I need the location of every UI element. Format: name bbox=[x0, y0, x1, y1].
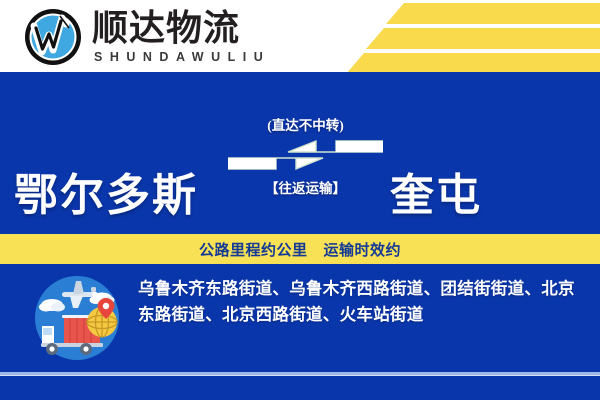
bidirectional-arrow-icon bbox=[228, 139, 383, 173]
route-section: 鄂尔多斯 (直达不中转) 【往返运输】 奎屯 bbox=[0, 72, 600, 234]
decorative-yellow-stripes bbox=[330, 0, 600, 72]
banner-header: 顺达物流 SHUNDAWULIU bbox=[0, 0, 600, 72]
truck-window bbox=[43, 328, 52, 335]
destination-city: 奎屯 bbox=[390, 174, 482, 218]
stripe-1 bbox=[366, 28, 600, 49]
route-middle: (直达不中转) 【往返运输】 bbox=[228, 118, 383, 218]
coverage-area-list: 乌鲁木齐东路街道、乌鲁木齐西路街道、团结街街道、北京东路街道、北京西路街道、火车… bbox=[138, 276, 584, 328]
brand-name-en: SHUNDAWULIU bbox=[94, 49, 270, 65]
origin-city: 鄂尔多斯 bbox=[14, 174, 198, 218]
brand-logo[interactable]: 顺达物流 SHUNDAWULIU bbox=[22, 6, 270, 68]
stripe-3 bbox=[386, 3, 600, 24]
info-band: 公路里程约公里 运输时效约 bbox=[0, 234, 600, 264]
footer-fill bbox=[0, 376, 600, 400]
wheel-hub-rear bbox=[83, 346, 88, 351]
route-note-roundtrip: 【往返运输】 bbox=[228, 181, 383, 197]
stripes-svg bbox=[330, 0, 600, 72]
duration-label: 运输时效约 bbox=[324, 239, 402, 260]
footer-divider bbox=[0, 372, 600, 375]
circle-w-logo-icon bbox=[22, 6, 84, 68]
truck-plane-globe-icon bbox=[28, 272, 126, 364]
route-note-direct: (直达不中转) bbox=[228, 118, 383, 134]
logistics-route-banner: 顺达物流 SHUNDAWULIU 鄂尔多斯 (直达不中转) 【往返运输】 奎屯 … bbox=[0, 0, 600, 400]
mileage-label: 公路里程约公里 bbox=[199, 239, 308, 260]
coverage-section: 乌鲁木齐东路街道、乌鲁木齐西路街道、团结街街道、北京东路街道、北京西路街道、火车… bbox=[0, 264, 600, 373]
stripe-2 bbox=[346, 53, 600, 72]
wheel-hub-front bbox=[49, 346, 54, 351]
brand-name-cn: 顺达物流 bbox=[92, 9, 270, 47]
brand-text-block: 顺达物流 SHUNDAWULIU bbox=[92, 9, 270, 65]
